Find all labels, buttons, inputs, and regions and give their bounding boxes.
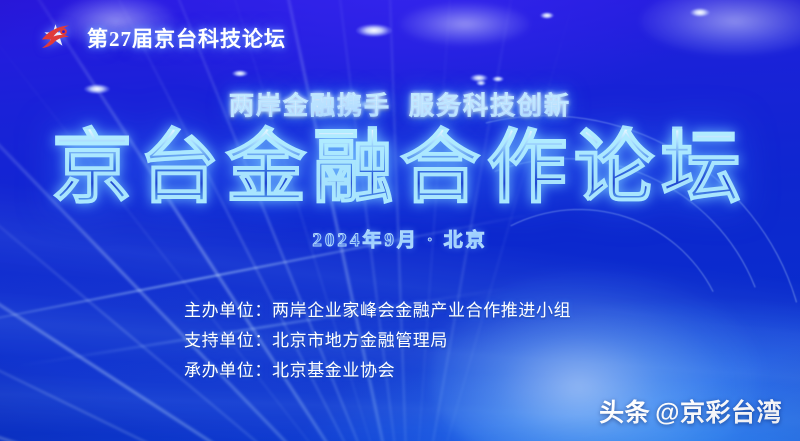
poster-header: 第27届京台科技论坛 [38, 22, 286, 54]
watermark-handle: @京彩台湾 [655, 393, 782, 429]
forum-name: 第27届京台科技论坛 [87, 23, 286, 53]
watermark: 头条 @京彩台湾 [599, 393, 782, 429]
poster-slogan: 两岸金融携手 服务科技创新 [0, 86, 800, 122]
poster-dateline: 2024年9月 · 北京 [0, 225, 800, 252]
poster-headline-container: 京台金融合作论坛 [0, 129, 800, 209]
background-particle [232, 70, 248, 77]
watermark-brand: 头条 [599, 393, 650, 429]
poster-canvas: 第27届京台科技论坛 两岸金融携手 服务科技创新 京台金融合作论坛 2024年9… [0, 0, 800, 441]
organizer-line-organizer: 承办单位：北京基金业协会 [184, 358, 616, 384]
poster-headline: 京台金融合作论坛 [52, 129, 748, 209]
background-particle [492, 76, 504, 82]
background-spark-cloud [400, 2, 530, 46]
organizer-list: 主办单位：两岸企业家峰会金融产业合作推进小组 支持单位：北京市地方金融管理局 承… [0, 298, 800, 384]
organizer-line-host: 主办单位：两岸企业家峰会金融产业合作推进小组 [184, 298, 616, 324]
background-particle [690, 8, 710, 17]
organizer-line-supporter: 支持单位：北京市地方金融管理局 [184, 328, 616, 354]
background-particle [540, 12, 554, 19]
jingtai-forum-logo-icon [38, 22, 78, 54]
background-particle [356, 24, 392, 37]
